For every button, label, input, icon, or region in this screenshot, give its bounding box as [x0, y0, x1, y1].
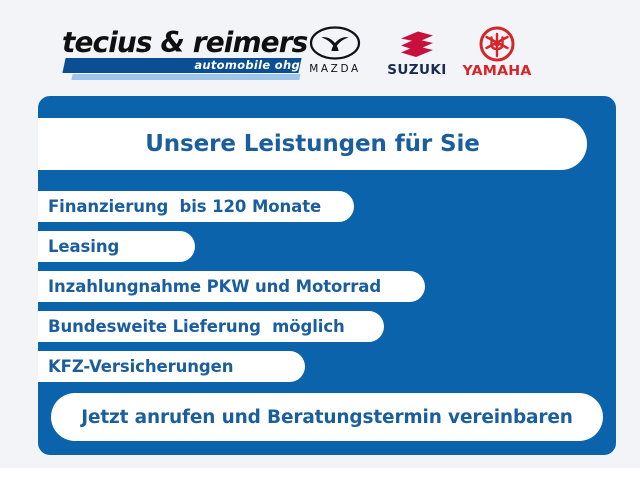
service-pill: Finanzierung bis 120 Monate	[38, 191, 354, 222]
yamaha-tuning-forks-logo-icon	[458, 26, 536, 62]
brand-header-bar: tecius & reimers automobile ohg MAZDA	[0, 0, 640, 92]
service-label: KFZ-Versicherungen	[44, 357, 233, 376]
service-pill: Inzahlungnahme PKW und Motorrad	[38, 271, 425, 302]
brand-name-yamaha: YAMAHA	[456, 63, 538, 79]
brand-logo-suzuki: SUZUKI	[378, 26, 456, 82]
dealer-wordmark: tecius & reimers	[62, 28, 295, 58]
panel-title-pill: Unsere Leistungen für Sie	[38, 118, 587, 170]
service-label: Leasing	[44, 237, 119, 256]
advertisement-canvas: tecius & reimers automobile ohg MAZDA	[0, 0, 640, 468]
service-pill: KFZ-Versicherungen	[38, 351, 305, 382]
brand-name-suzuki: SUZUKI	[376, 63, 457, 78]
list-item: Bundesweite Lieferung möglich	[38, 306, 616, 346]
brand-name-mazda: MAZDA	[296, 63, 374, 75]
list-item: Finanzierung bis 120 Monate	[38, 186, 616, 226]
list-item: Inzahlungnahme PKW und Motorrad	[38, 266, 616, 306]
list-item: Leasing	[38, 226, 616, 266]
brand-logo-mazda: MAZDA	[296, 26, 374, 82]
services-panel: Unsere Leistungen für Sie Finanzierung b…	[38, 96, 616, 455]
call-to-action-label: Jetzt anrufen und Beratungstermin verein…	[81, 407, 573, 428]
brand-logo-yamaha: YAMAHA	[458, 26, 536, 82]
service-label: Finanzierung bis 120 Monate	[44, 197, 321, 216]
dealer-tagline: automobile ohg	[150, 57, 300, 73]
service-label: Inzahlungnahme PKW und Motorrad	[44, 277, 381, 296]
service-pill: Leasing	[38, 231, 195, 262]
suzuki-s-logo-icon	[378, 26, 456, 62]
mazda-oval-logo-icon	[296, 26, 374, 62]
dealer-logo: tecius & reimers automobile ohg	[62, 28, 300, 80]
service-list: Finanzierung bis 120 Monate Leasing Inza…	[38, 186, 616, 386]
list-item: KFZ-Versicherungen	[38, 346, 616, 386]
call-to-action-button[interactable]: Jetzt anrufen und Beratungstermin verein…	[51, 393, 603, 441]
panel-title: Unsere Leistungen für Sie	[145, 131, 480, 157]
service-pill: Bundesweite Lieferung möglich	[38, 311, 384, 342]
service-label: Bundesweite Lieferung möglich	[44, 317, 345, 336]
logo-swoosh-accent	[71, 74, 300, 80]
